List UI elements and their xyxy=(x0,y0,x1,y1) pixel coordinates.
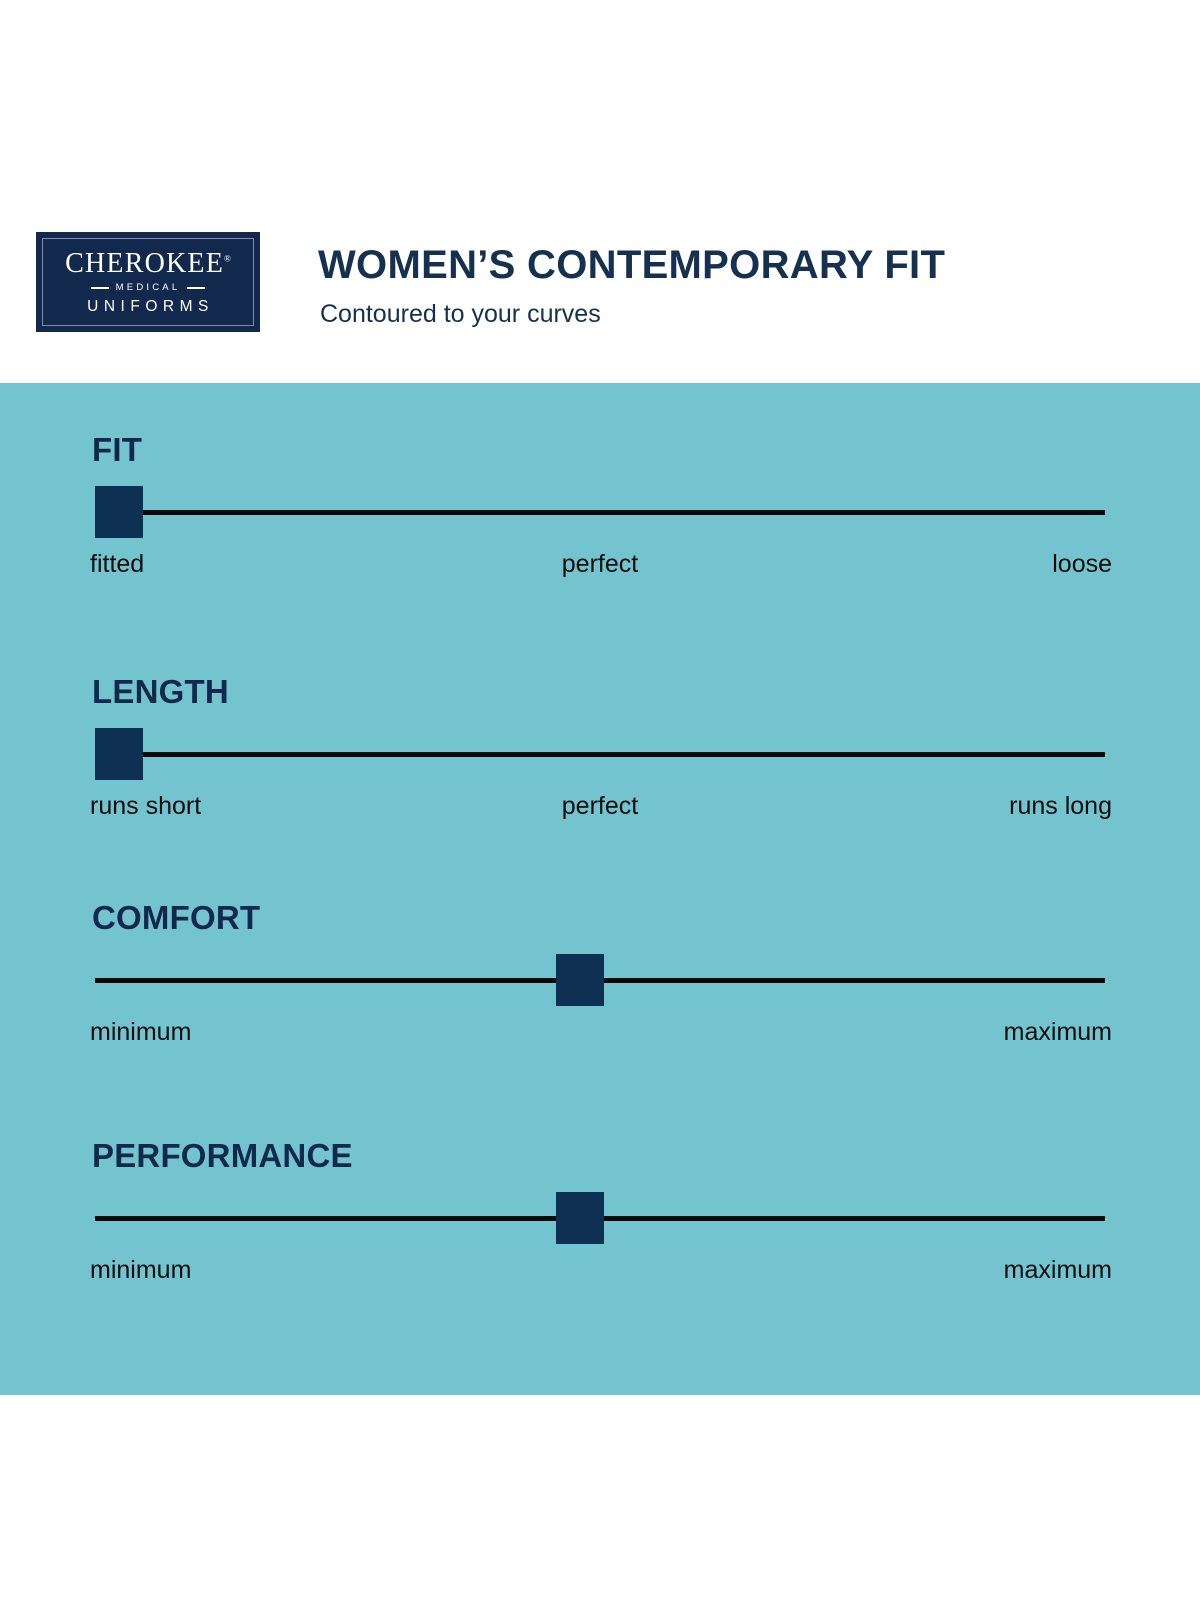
slider-heading-comfort: COMFORT xyxy=(92,899,260,937)
slider-labels-length: runs short perfect runs long xyxy=(0,789,1200,823)
fit-scales-panel: FIT fitted perfect loose LENGTH runs sho… xyxy=(0,383,1200,1395)
slider-labels-comfort: minimum maximum xyxy=(0,1015,1200,1049)
slider-label-right-length: runs long xyxy=(1009,789,1112,823)
slider-track-fit xyxy=(95,510,1105,515)
slider-heading-performance: PERFORMANCE xyxy=(92,1137,353,1175)
fit-guide-page: CHEROKEE® MEDICAL UNIFORMS WOMEN’S CONTE… xyxy=(0,0,1200,1600)
slider-track-area-performance[interactable] xyxy=(95,1192,1105,1244)
slider-handle-comfort[interactable] xyxy=(556,954,604,1006)
slider-heading-length: LENGTH xyxy=(92,673,229,711)
page-subtitle: Contoured to your curves xyxy=(320,300,601,329)
logo-medical-row: MEDICAL xyxy=(91,283,206,293)
logo-rule-left-icon xyxy=(91,287,109,289)
slider-label-left-performance: minimum xyxy=(90,1253,191,1287)
page-title: WOMEN’S CONTEMPORARY FIT xyxy=(318,243,945,288)
logo-medical-text: MEDICAL xyxy=(116,283,181,293)
slider-labels-fit: fitted perfect loose xyxy=(0,547,1200,581)
slider-track-area-fit[interactable] xyxy=(95,486,1105,538)
slider-label-left-comfort: minimum xyxy=(90,1015,191,1049)
logo-brand-text: CHEROKEE xyxy=(65,248,224,279)
slider-heading-fit: FIT xyxy=(92,431,142,469)
slider-label-right-comfort: maximum xyxy=(1004,1015,1112,1049)
slider-label-right-fit: loose xyxy=(1052,547,1112,581)
slider-label-center-fit: perfect xyxy=(0,547,1200,581)
logo-uniforms-text: UNIFORMS xyxy=(82,299,214,315)
slider-track-length xyxy=(95,752,1105,757)
slider-handle-length[interactable] xyxy=(95,728,143,780)
slider-track-area-length[interactable] xyxy=(95,728,1105,780)
page-header: CHEROKEE® MEDICAL UNIFORMS WOMEN’S CONTE… xyxy=(0,0,1200,383)
slider-handle-fit[interactable] xyxy=(95,486,143,538)
slider-labels-performance: minimum maximum xyxy=(0,1253,1200,1287)
slider-label-right-performance: maximum xyxy=(1004,1253,1112,1287)
logo-rule-right-icon xyxy=(187,287,205,289)
logo-inner-frame: CHEROKEE® MEDICAL UNIFORMS xyxy=(42,238,254,326)
logo-brand-name: CHEROKEE® xyxy=(65,250,231,278)
slider-track-area-comfort[interactable] xyxy=(95,954,1105,1006)
registered-trademark-icon: ® xyxy=(224,254,231,264)
cherokee-logo: CHEROKEE® MEDICAL UNIFORMS xyxy=(36,232,260,332)
slider-handle-performance[interactable] xyxy=(556,1192,604,1244)
